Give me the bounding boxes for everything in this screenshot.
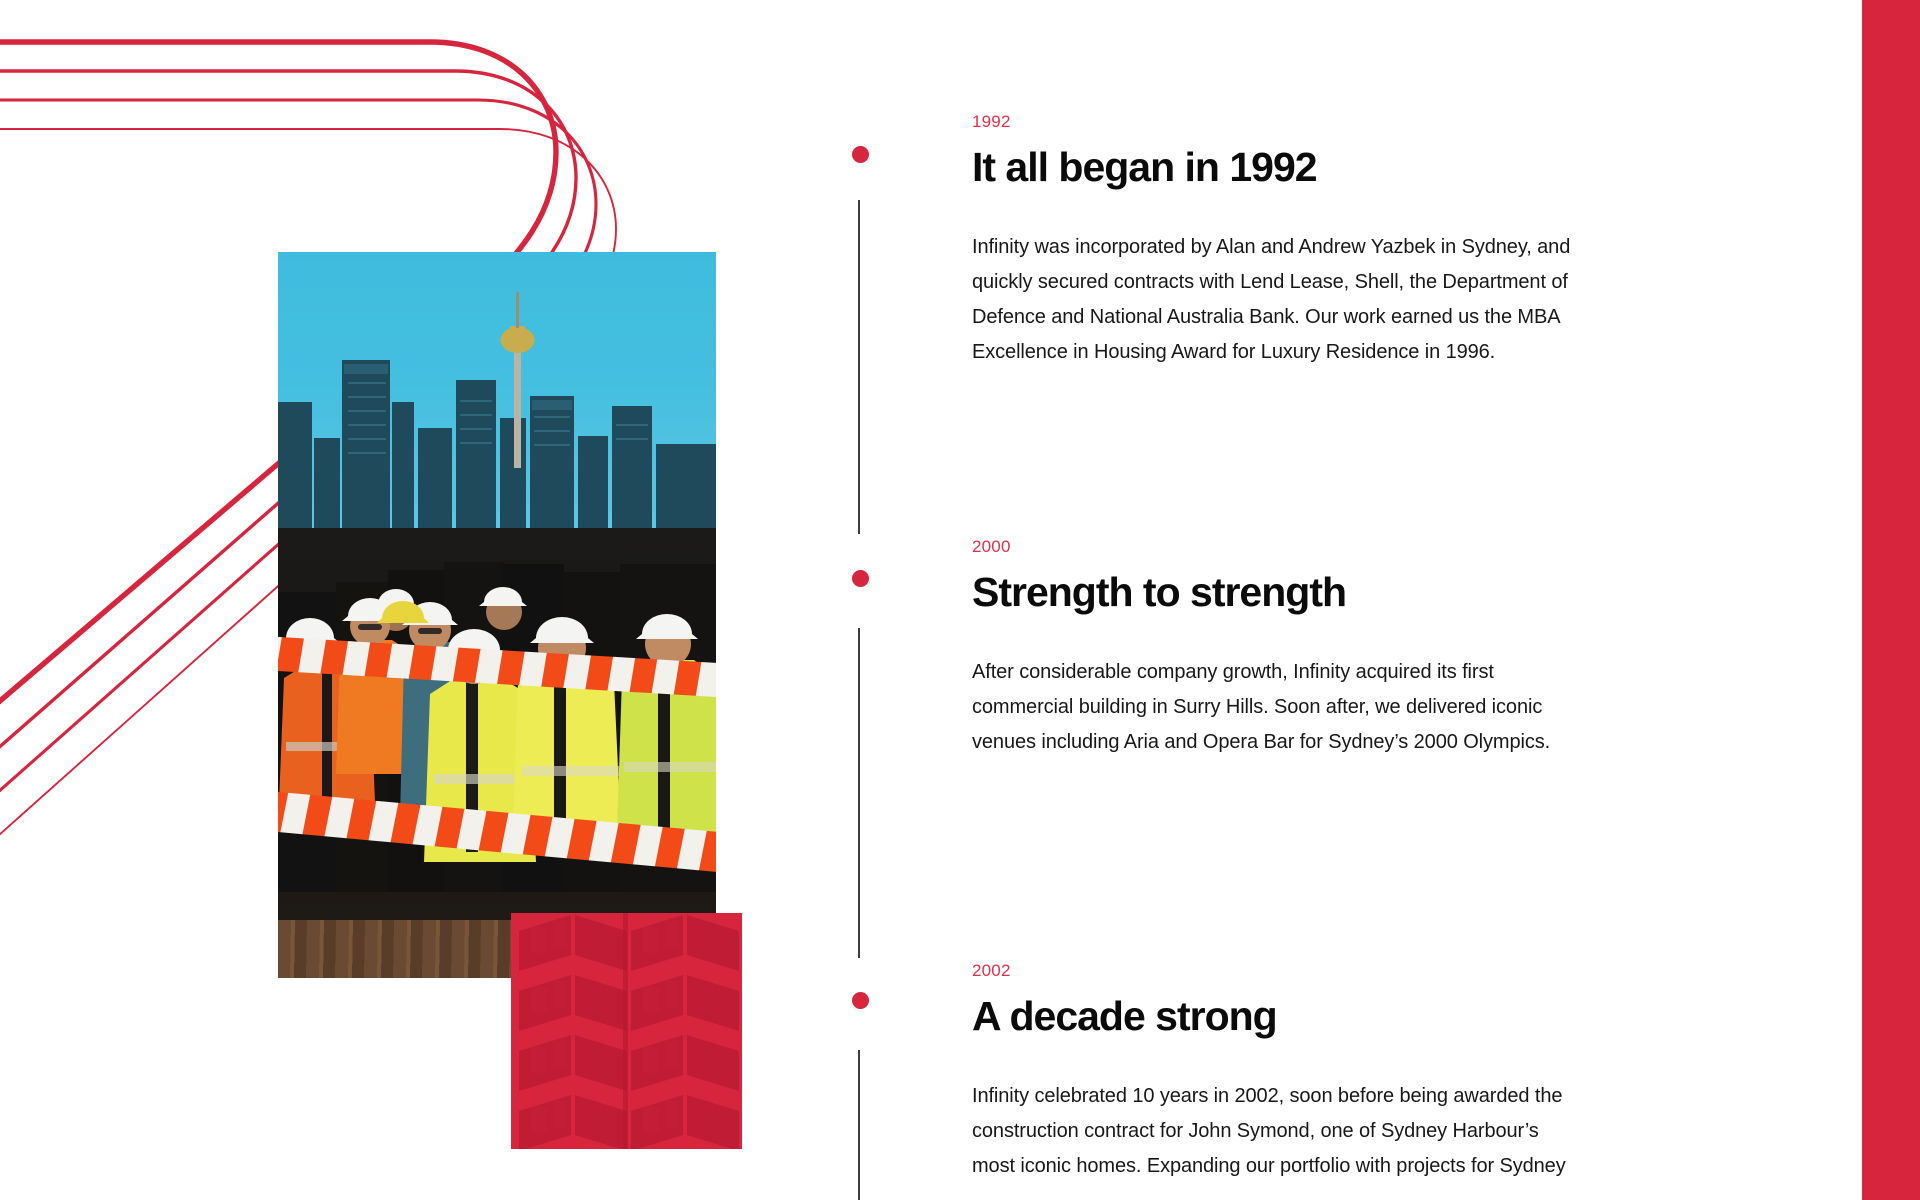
timeline-entry-1: 1992 It all began in 1992 Infinity was i… <box>972 112 1652 370</box>
timeline-title-3: A decade strong <box>972 993 1652 1039</box>
timeline-year-3: 2002 <box>972 961 1652 981</box>
timeline-body-2: After considerable company growth, Infin… <box>972 655 1584 760</box>
timeline-segment-2 <box>858 628 860 958</box>
timeline-dot-3[interactable] <box>852 992 869 1009</box>
page-stage: 1992 It all began in 1992 Infinity was i… <box>0 0 1920 1200</box>
timeline-year-1: 1992 <box>972 112 1652 132</box>
timeline-dot-2[interactable] <box>852 570 869 587</box>
timeline-entry-3: 2002 A decade strong Infinity celebrated… <box>972 961 1652 1184</box>
timeline-entry-2: 2000 Strength to strength After consider… <box>972 537 1652 760</box>
timeline-year-2: 2000 <box>972 537 1652 557</box>
timeline-segment-3 <box>858 1050 860 1200</box>
timeline-body-3: Infinity celebrated 10 years in 2002, so… <box>972 1079 1584 1184</box>
timeline-title-2: Strength to strength <box>972 569 1652 615</box>
timeline-dot-1[interactable] <box>852 146 869 163</box>
timeline-segment-1 <box>858 200 860 534</box>
timeline-title-1: It all began in 1992 <box>972 144 1652 190</box>
timeline-body-1: Infinity was incorporated by Alan and An… <box>972 230 1584 370</box>
red-vertical-bar <box>1862 0 1920 1200</box>
